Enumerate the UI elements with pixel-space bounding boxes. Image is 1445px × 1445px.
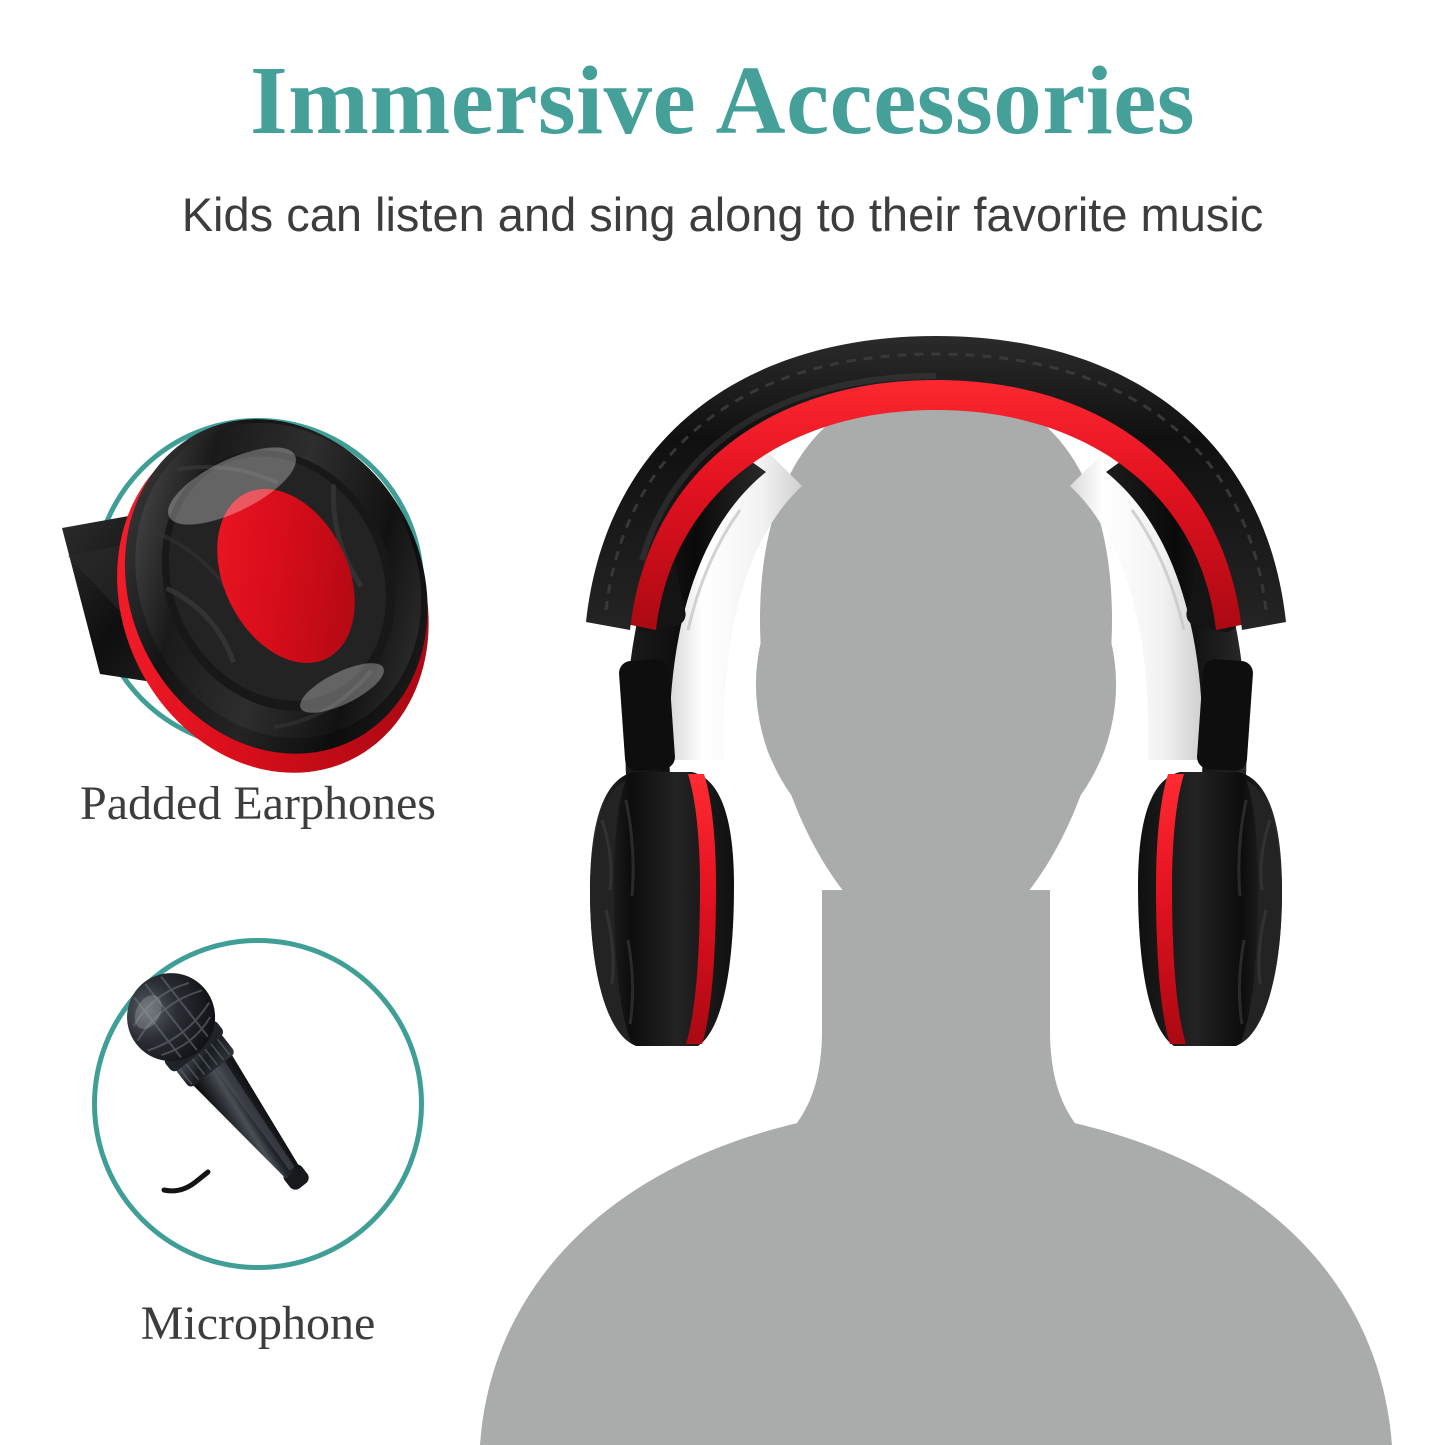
teal-circle-ring [92,418,424,750]
page-subtitle: Kids can listen and sing along to their … [0,149,1445,238]
feature-label-padded-earphones: Padded Earphones [78,750,438,831]
feature-label-microphone: Microphone [78,1270,438,1351]
earcup-right [1138,772,1282,1046]
hero-headphones-on-silhouette [430,330,1445,1445]
feature-circle-microphone [92,938,424,1270]
header: Immersive Accessories Kids can listen an… [0,0,1445,238]
feature-circle-padded-earphones [92,418,424,750]
product-feature-infographic: Immersive Accessories Kids can listen an… [0,0,1445,1445]
earcup-left [590,772,734,1046]
teal-circle-ring [92,938,424,1270]
feature-callout-microphone: Microphone [78,938,438,1351]
feature-callout-padded-earphones: Padded Earphones [78,418,438,831]
page-title: Immersive Accessories [0,0,1445,149]
